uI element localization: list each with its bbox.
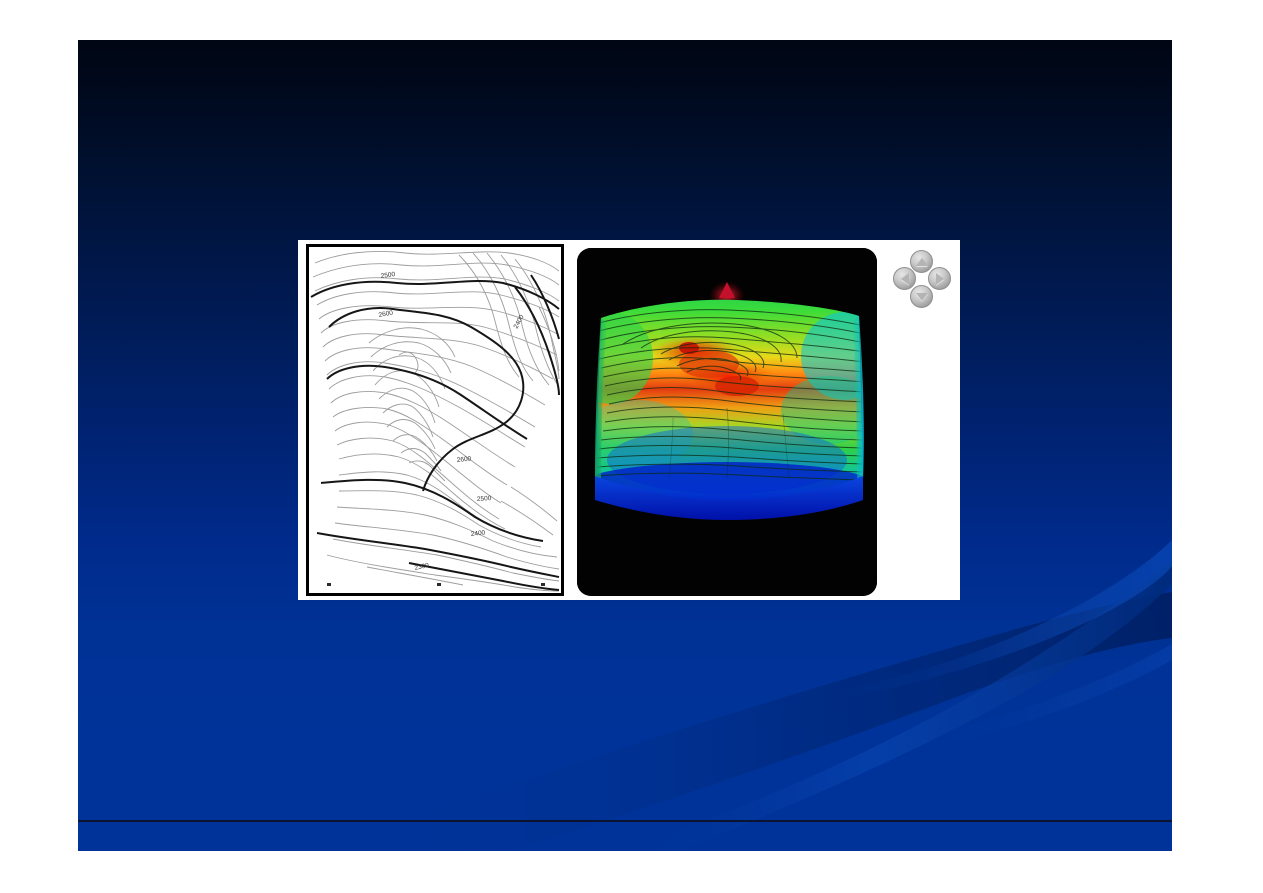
footer-divider-line	[78, 820, 1172, 822]
contour-map[interactable]: 2500 2600 2400 2600 2500 2400 2300	[306, 244, 564, 596]
pan-up-button[interactable]: Pan up	[910, 250, 933, 273]
contour-label: 2500	[477, 495, 492, 503]
pan-direction-control[interactable]: Pan up Pan down Pan left Pan right	[893, 250, 951, 308]
terrain-3d-svg	[577, 248, 877, 596]
arrow-right-icon	[936, 273, 944, 285]
pan-down-button[interactable]: Pan down	[910, 285, 933, 308]
pan-right-button[interactable]: Pan right	[928, 267, 951, 290]
image-content-panel: 2500 2600 2400 2600 2500 2400 2300	[298, 240, 960, 600]
pan-left-button[interactable]: Pan left	[893, 267, 916, 290]
presentation-slide: 2500 2600 2400 2600 2500 2400 2300	[78, 40, 1172, 851]
arrow-up-icon	[916, 258, 928, 266]
screenshot-root: 2500 2600 2400 2600 2500 2400 2300	[0, 0, 1263, 893]
terrain-3d-view[interactable]	[577, 248, 877, 596]
terrain-surface	[577, 288, 877, 518]
contour-map-svg: 2500 2600 2400 2600 2500 2400 2300	[309, 247, 561, 593]
arrow-left-icon	[901, 273, 909, 285]
arrow-down-icon	[916, 293, 928, 301]
